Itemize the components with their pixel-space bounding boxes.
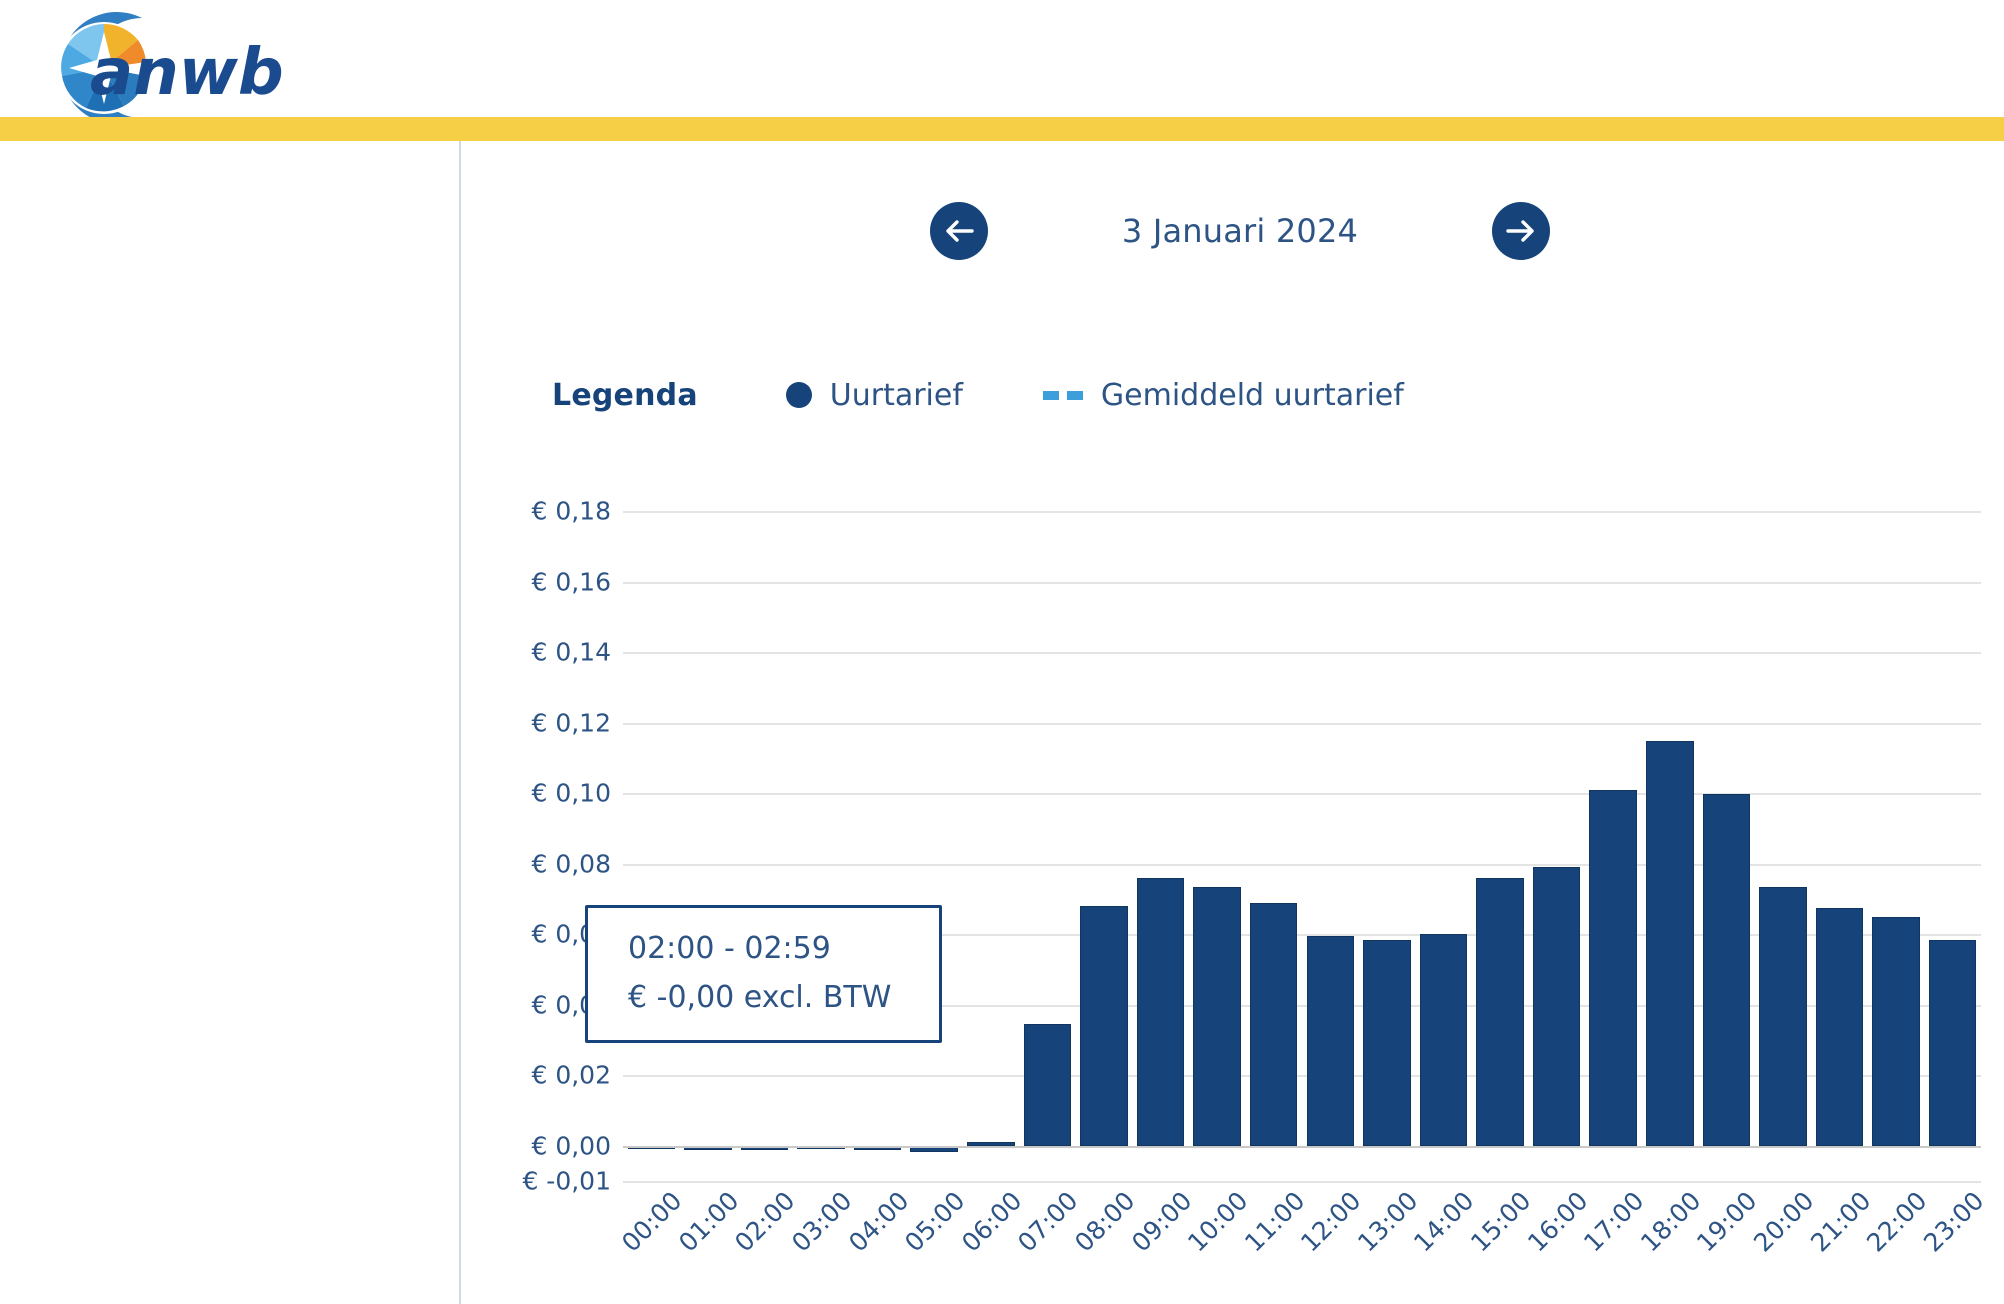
bar-slot[interactable] bbox=[1698, 490, 1755, 1190]
bar-slot[interactable] bbox=[1924, 490, 1981, 1190]
x-axis-tick-label: 12:00 bbox=[1295, 1186, 1366, 1257]
bar-slot[interactable] bbox=[1132, 490, 1189, 1190]
y-axis-tick-label: € 0,00 bbox=[531, 1131, 611, 1160]
legend-dot-icon bbox=[786, 382, 812, 408]
bar-slot[interactable] bbox=[963, 490, 1020, 1190]
bar-slot[interactable] bbox=[1755, 490, 1812, 1190]
bar[interactable] bbox=[1363, 940, 1411, 1146]
x-axis-tick-label: 07:00 bbox=[1012, 1186, 1083, 1257]
bar-slot[interactable] bbox=[1359, 490, 1416, 1190]
chart-legend: Legenda Uurtarief Gemiddeld uurtarief bbox=[552, 372, 1484, 418]
bar[interactable] bbox=[1080, 906, 1128, 1146]
x-axis-tick-label: 22:00 bbox=[1861, 1186, 1932, 1257]
x-axis-tick-label: 01:00 bbox=[673, 1186, 744, 1257]
next-day-button[interactable] bbox=[1492, 202, 1550, 260]
content-left-divider bbox=[459, 141, 461, 1304]
x-axis-tick-label: 13:00 bbox=[1352, 1186, 1423, 1257]
bar-slot[interactable] bbox=[1245, 490, 1302, 1190]
legend-item-uurtarief[interactable]: Uurtarief bbox=[786, 378, 963, 413]
hourly-rate-bar-chart: € 0,18€ 0,16€ 0,14€ 0,12€ 0,10€ 0,08€ 0,… bbox=[519, 490, 1981, 1190]
bar[interactable] bbox=[1420, 934, 1468, 1146]
bar-slot[interactable] bbox=[736, 490, 793, 1190]
legend-title: Legenda bbox=[552, 378, 698, 413]
bar-slot[interactable] bbox=[1585, 490, 1642, 1190]
y-axis-tick-label: € 0,12 bbox=[531, 708, 611, 737]
bar[interactable] bbox=[1476, 878, 1524, 1146]
bar[interactable] bbox=[1307, 936, 1355, 1146]
legend-label-gemiddeld-uurtarief: Gemiddeld uurtarief bbox=[1101, 378, 1404, 413]
bar-slot[interactable] bbox=[906, 490, 963, 1190]
bar-slot[interactable] bbox=[1076, 490, 1133, 1190]
bar-slot[interactable] bbox=[849, 490, 906, 1190]
bar-slot[interactable] bbox=[1528, 490, 1585, 1190]
x-axis-tick-label: 04:00 bbox=[843, 1186, 914, 1257]
y-axis-tick-label: € 0,02 bbox=[531, 1061, 611, 1090]
x-axis-line bbox=[623, 1146, 1981, 1148]
x-axis-tick-label: 16:00 bbox=[1522, 1186, 1593, 1257]
svg-text:anwb: anwb bbox=[90, 36, 284, 110]
bar[interactable] bbox=[1703, 794, 1751, 1146]
bar[interactable] bbox=[1872, 917, 1920, 1146]
bar[interactable] bbox=[1816, 908, 1864, 1146]
x-axis-tick-label: 18:00 bbox=[1635, 1186, 1706, 1257]
x-axis-tick-label: 08:00 bbox=[1069, 1186, 1140, 1257]
x-axis-tick-label: 23:00 bbox=[1918, 1186, 1989, 1257]
x-axis-tick-label: 03:00 bbox=[786, 1186, 857, 1257]
date-navigation: 3 Januari 2024 bbox=[930, 200, 1550, 262]
x-axis-tick-label: 05:00 bbox=[899, 1186, 970, 1257]
current-date-label: 3 Januari 2024 bbox=[1122, 212, 1358, 250]
bar-slot[interactable] bbox=[1472, 490, 1529, 1190]
arrow-left-icon bbox=[944, 218, 974, 244]
bar-slot[interactable] bbox=[1189, 490, 1246, 1190]
bar-slot[interactable] bbox=[793, 490, 850, 1190]
bar[interactable] bbox=[1759, 887, 1807, 1146]
anwb-compass-logo: anwb bbox=[38, 6, 290, 126]
bar[interactable] bbox=[1250, 903, 1298, 1146]
y-axis-tick-label: € 0,18 bbox=[531, 497, 611, 526]
y-axis-tick-label: € 0,08 bbox=[531, 849, 611, 878]
bar[interactable] bbox=[1929, 940, 1977, 1146]
bar-slot[interactable] bbox=[1811, 490, 1868, 1190]
bar[interactable] bbox=[1193, 887, 1241, 1146]
arrow-right-icon bbox=[1506, 218, 1536, 244]
bar[interactable] bbox=[1589, 790, 1637, 1146]
x-axis-tick-label: 02:00 bbox=[730, 1186, 801, 1257]
legend-item-gemiddeld-uurtarief[interactable]: Gemiddeld uurtarief bbox=[1043, 378, 1404, 413]
brand-accent-bar bbox=[0, 117, 2004, 141]
bar[interactable] bbox=[1646, 741, 1694, 1146]
x-axis-tick-label: 10:00 bbox=[1182, 1186, 1253, 1257]
x-axis-tick-label: 17:00 bbox=[1578, 1186, 1649, 1257]
bar-slot[interactable] bbox=[623, 490, 680, 1190]
y-axis-tick-label: € 0,16 bbox=[531, 567, 611, 596]
bar-slot[interactable] bbox=[1868, 490, 1925, 1190]
y-axis-tick-label: € 0,14 bbox=[531, 638, 611, 667]
bar-slot[interactable] bbox=[1415, 490, 1472, 1190]
x-axis-tick-label: 19:00 bbox=[1691, 1186, 1762, 1257]
bar[interactable] bbox=[1024, 1024, 1072, 1146]
x-axis-tick-label: 15:00 bbox=[1465, 1186, 1536, 1257]
x-axis-tick-label: 06:00 bbox=[956, 1186, 1027, 1257]
x-axis-tick-label: 14:00 bbox=[1409, 1186, 1480, 1257]
bar[interactable] bbox=[1533, 867, 1581, 1146]
x-axis-tick-label: 09:00 bbox=[1126, 1186, 1197, 1257]
page-header: anwb bbox=[0, 0, 2004, 140]
legend-dash-icon bbox=[1043, 391, 1083, 400]
x-axis-tick-label: 21:00 bbox=[1805, 1186, 1876, 1257]
tooltip-value: € -0,00 excl. BTW bbox=[628, 974, 939, 1023]
bar[interactable] bbox=[1137, 878, 1185, 1146]
bar-slot[interactable] bbox=[1019, 490, 1076, 1190]
bar-slot[interactable] bbox=[1302, 490, 1359, 1190]
tooltip-time-range: 02:00 - 02:59 bbox=[628, 925, 939, 974]
bar-slot[interactable] bbox=[1642, 490, 1699, 1190]
bar-slot[interactable] bbox=[680, 490, 737, 1190]
y-axis-tick-label: € 0,10 bbox=[531, 779, 611, 808]
bar-tooltip: 02:00 - 02:59 € -0,00 excl. BTW bbox=[585, 905, 942, 1043]
chart-bars bbox=[623, 490, 1981, 1190]
legend-label-uurtarief: Uurtarief bbox=[830, 378, 963, 413]
x-axis-tick-label: 00:00 bbox=[616, 1186, 687, 1257]
previous-day-button[interactable] bbox=[930, 202, 988, 260]
x-axis-tick-labels: 00:0001:0002:0003:0004:0005:0006:0007:00… bbox=[519, 1186, 1981, 1304]
x-axis-tick-label: 20:00 bbox=[1748, 1186, 1819, 1257]
x-axis-tick-label: 11:00 bbox=[1239, 1186, 1310, 1257]
